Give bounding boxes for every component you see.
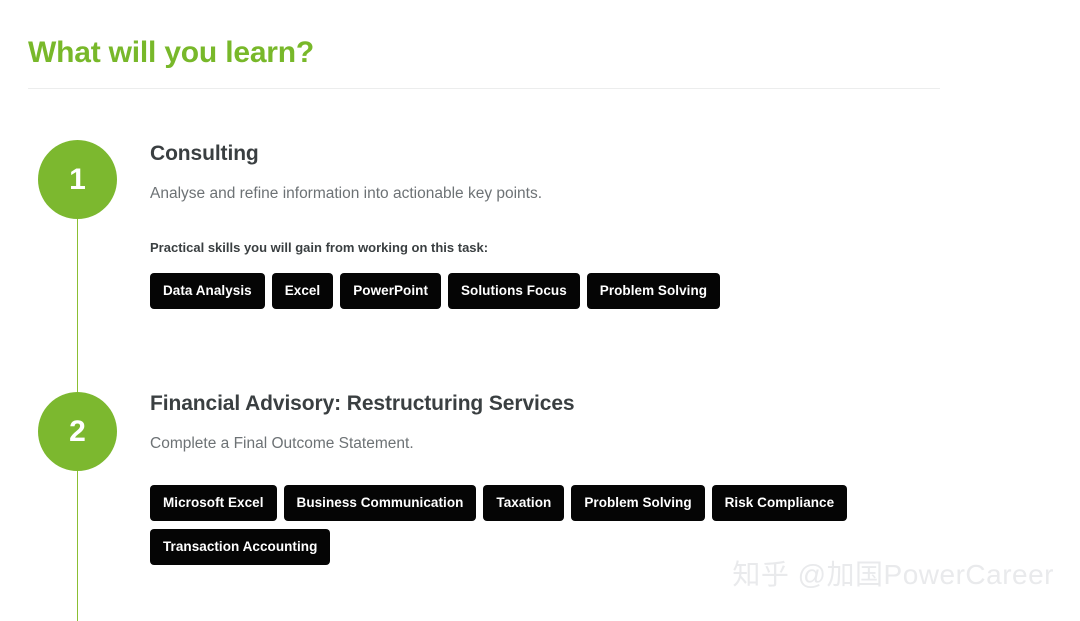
skill-tag[interactable]: Transaction Accounting	[150, 529, 330, 565]
skill-tag[interactable]: PowerPoint	[340, 273, 441, 309]
page-title: What will you learn?	[28, 34, 314, 72]
step-title: Consulting	[150, 140, 1030, 167]
skill-tag[interactable]: Excel	[272, 273, 334, 309]
step-content: Consulting Analyse and refine informatio…	[150, 140, 1030, 309]
step-title: Financial Advisory: Restructuring Servic…	[150, 390, 1030, 417]
skill-tag[interactable]: Solutions Focus	[448, 273, 580, 309]
skill-tag[interactable]: Problem Solving	[571, 485, 704, 521]
step-description: Complete a Final Outcome Statement.	[150, 433, 1030, 455]
skill-tag-row: Data Analysis Excel PowerPoint Solutions…	[150, 273, 940, 309]
skill-tag[interactable]: Problem Solving	[587, 273, 720, 309]
skill-tag[interactable]: Business Communication	[284, 485, 477, 521]
skill-tag[interactable]: Microsoft Excel	[150, 485, 277, 521]
step-description: Analyse and refine information into acti…	[150, 183, 1030, 205]
step-number-badge: 2	[38, 392, 117, 471]
skill-tag[interactable]: Data Analysis	[150, 273, 265, 309]
practical-skills-label: Practical skills you will gain from work…	[150, 239, 1030, 257]
skill-tag[interactable]: Risk Compliance	[712, 485, 848, 521]
watermark: 知乎 @加国PowerCareer	[732, 553, 1054, 593]
step-content: Financial Advisory: Restructuring Servic…	[150, 390, 1030, 565]
step-number-badge: 1	[38, 140, 117, 219]
title-divider	[28, 88, 940, 89]
skill-tag[interactable]: Taxation	[483, 485, 564, 521]
